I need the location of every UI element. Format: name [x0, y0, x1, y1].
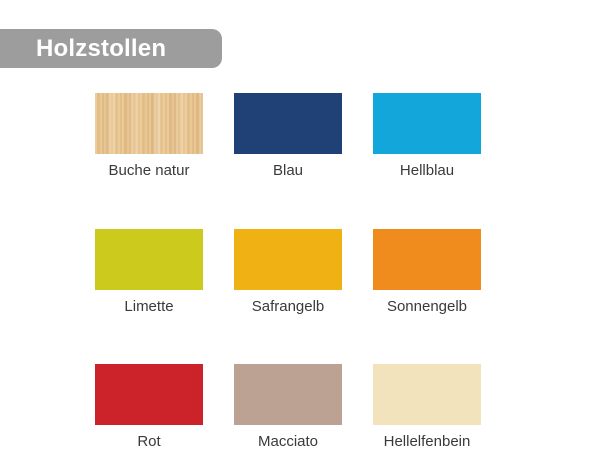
color-swatch-grid: Buche natur Blau Hellblau Limette Safran… [95, 93, 505, 451]
swatch-label: Macciato [258, 434, 318, 451]
swatch-item-buche-natur[interactable]: Buche natur [95, 93, 203, 180]
swatch-item-sonnengelb[interactable]: Sonnengelb [373, 229, 481, 316]
header-banner: Holzstollen [0, 29, 222, 68]
swatch-label: Rot [137, 434, 160, 451]
color-chip[interactable] [95, 229, 203, 290]
swatch-label: Safrangelb [252, 299, 325, 316]
color-chip[interactable] [95, 93, 203, 154]
page-title: Holzstollen [36, 37, 166, 61]
color-chip[interactable] [234, 93, 342, 154]
color-chip[interactable] [95, 364, 203, 425]
swatch-item-hellblau[interactable]: Hellblau [373, 93, 481, 180]
color-chip[interactable] [373, 229, 481, 290]
color-chip[interactable] [234, 364, 342, 425]
color-chip[interactable] [234, 229, 342, 290]
swatch-label: Limette [124, 299, 173, 316]
swatch-item-blau[interactable]: Blau [234, 93, 342, 180]
swatch-item-rot[interactable]: Rot [95, 364, 203, 451]
color-chip[interactable] [373, 93, 481, 154]
swatch-label: Hellblau [400, 163, 454, 180]
swatch-item-safrangelb[interactable]: Safrangelb [234, 229, 342, 316]
swatch-item-limette[interactable]: Limette [95, 229, 203, 316]
swatch-item-macciato[interactable]: Macciato [234, 364, 342, 451]
swatch-label: Buche natur [109, 163, 190, 180]
swatch-label: Blau [273, 163, 303, 180]
swatch-label: Sonnengelb [387, 299, 467, 316]
swatch-item-hellelfenbein[interactable]: Hellelfenbein [373, 364, 481, 451]
color-chip[interactable] [373, 364, 481, 425]
swatch-label: Hellelfenbein [384, 434, 471, 451]
